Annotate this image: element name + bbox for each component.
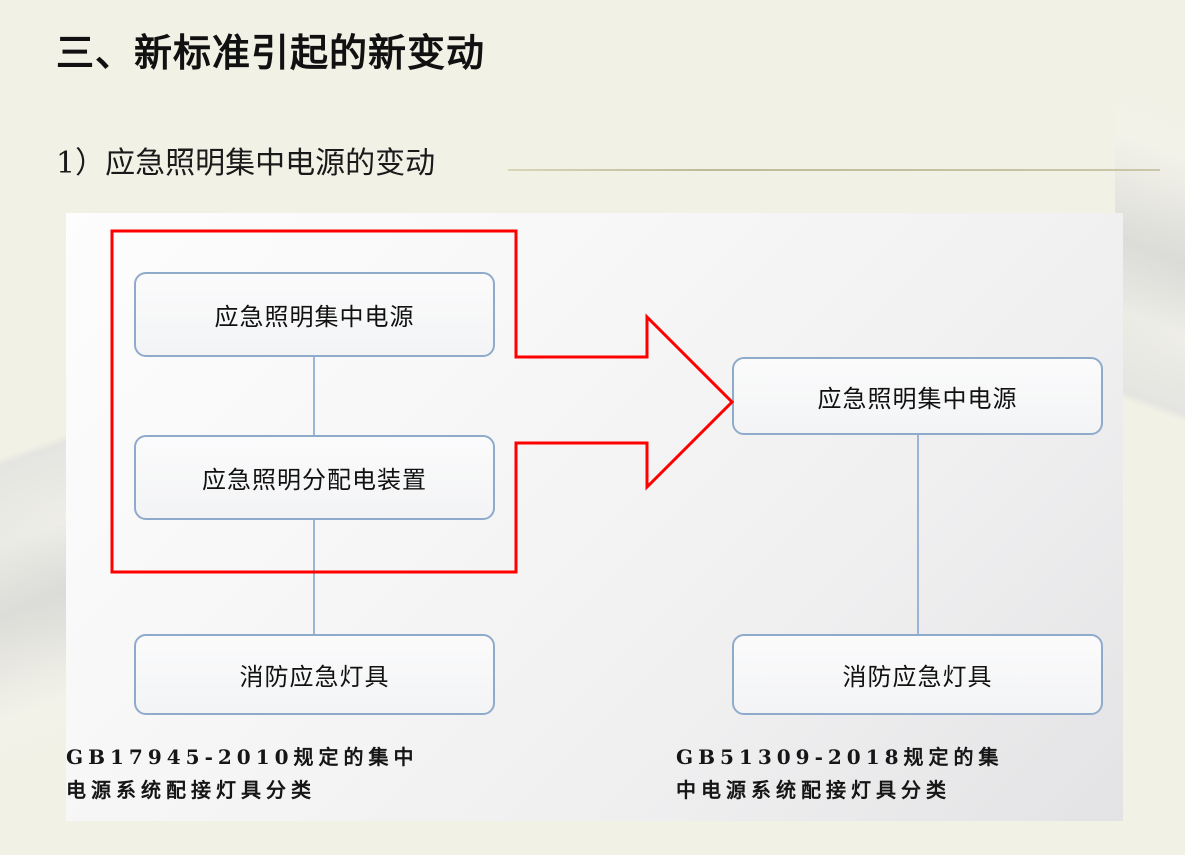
marble-texture-left <box>0 0 70 855</box>
connector-right-1-2 <box>917 435 919 635</box>
node-label: 消防应急灯具 <box>240 657 390 692</box>
caption-left-line1: GB17945-2010规定的集中 <box>66 741 566 774</box>
node-right-emergency-central-power[interactable]: 应急照明集中电源 <box>732 357 1103 435</box>
node-left-emergency-distribution-device[interactable]: 应急照明分配电装置 <box>134 435 495 520</box>
node-label: 应急照明集中电源 <box>818 379 1018 414</box>
caption-right-line2: 中电源系统配接灯具分类 <box>676 774 1136 807</box>
node-label: 应急照明集中电源 <box>215 297 415 332</box>
node-left-emergency-central-power[interactable]: 应急照明集中电源 <box>134 272 495 357</box>
caption-left: GB17945-2010规定的集中 电源系统配接灯具分类 <box>66 741 566 807</box>
connector-left-2-3 <box>313 520 315 635</box>
caption-right: GB51309-2018规定的集 中电源系统配接灯具分类 <box>676 741 1136 807</box>
caption-right-line1: GB51309-2018规定的集 <box>676 741 1136 774</box>
page-title: 三、新标准引起的新变动 <box>56 22 485 77</box>
node-left-fire-emergency-luminaire[interactable]: 消防应急灯具 <box>134 634 495 715</box>
slide-canvas: 三、新标准引起的新变动 1）应急照明集中电源的变动 应急照明集中电源 应急照明分… <box>0 0 1185 855</box>
section-subtitle: 1）应急照明集中电源的变动 <box>56 138 435 182</box>
caption-left-line2: 电源系统配接灯具分类 <box>66 774 566 807</box>
connector-left-1-2 <box>313 357 315 435</box>
diagram-panel: 应急照明集中电源 应急照明分配电装置 消防应急灯具 应急照明集中电源 消防应急灯… <box>66 213 1123 821</box>
marble-texture-right <box>1115 0 1185 855</box>
subtitle-divider <box>508 169 1160 171</box>
node-label: 消防应急灯具 <box>843 657 993 692</box>
node-right-fire-emergency-luminaire[interactable]: 消防应急灯具 <box>732 634 1103 715</box>
node-label: 应急照明分配电装置 <box>202 460 427 495</box>
